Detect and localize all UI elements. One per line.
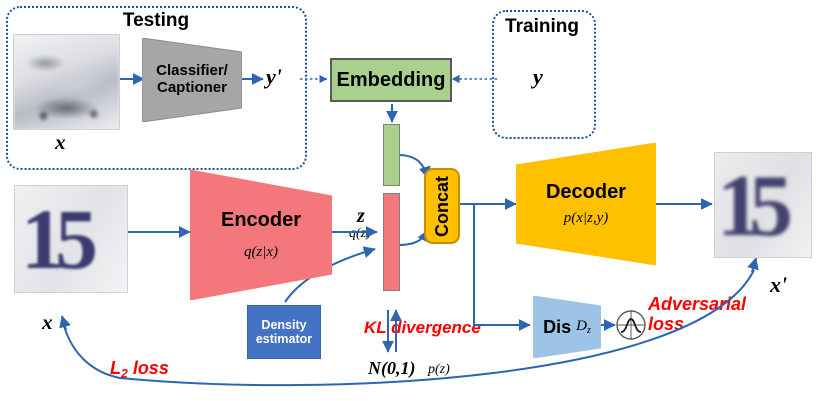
- classifier-label-line2: Captioner: [157, 80, 227, 97]
- density-estimator-line2: estimator: [256, 332, 312, 346]
- discriminator-node[interactable]: Dis Dz: [533, 296, 601, 358]
- encoder-subtitle: q(z|x): [244, 244, 278, 261]
- encoder-node[interactable]: Encoder q(z|x): [190, 170, 332, 300]
- density-estimator-box[interactable]: Density estimator: [247, 305, 321, 359]
- embedding-box[interactable]: Embedding: [330, 58, 452, 102]
- classifier-captioner-node: Classifier/ Captioner: [142, 38, 242, 122]
- encoder-title: Encoder: [221, 209, 301, 232]
- arrow-l2-loss-curve: [64, 270, 754, 385]
- decoder-subtitle: p(x|z,y): [564, 210, 609, 227]
- latent-z-vector-bar: [383, 193, 400, 291]
- car-image: [13, 34, 120, 130]
- density-estimator-line1: Density: [261, 318, 306, 332]
- svg-text:5: 5: [55, 191, 98, 287]
- concat-label: Concat: [432, 175, 453, 236]
- output-digits-image: 1 5: [714, 152, 812, 258]
- input-digits-image: 1 5: [14, 185, 128, 293]
- arrow-l2-loss-head-right: [752, 258, 756, 272]
- embedding-label: Embedding: [337, 69, 446, 92]
- decoder-node[interactable]: Decoder p(x|z,y): [516, 143, 656, 265]
- discriminator-symbol-sub: z: [587, 325, 591, 336]
- architecture-diagram: embedding (dotted) --> embedding (dotted…: [0, 0, 825, 401]
- sigmoid-activation-icon: [614, 308, 648, 342]
- embedding-vector-bar: [383, 124, 400, 186]
- decoder-title: Decoder: [546, 181, 626, 204]
- classifier-label-line1: Classifier/: [156, 63, 228, 80]
- discriminator-title: Dis: [543, 317, 571, 338]
- concat-box[interactable]: Concat: [424, 168, 460, 244]
- discriminator-symbol: D: [576, 318, 587, 334]
- svg-text:5: 5: [749, 158, 793, 255]
